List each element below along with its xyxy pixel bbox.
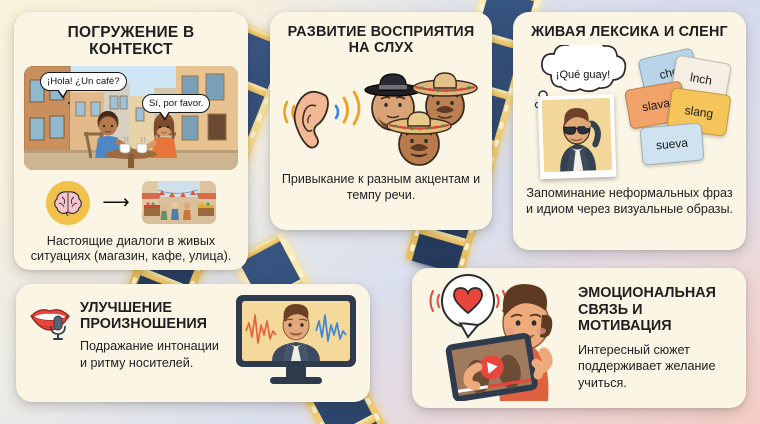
card-listening-description: Привыкание к разным акцентам и темпу реч…: [280, 172, 482, 203]
person-with-tablet: [422, 271, 572, 406]
card-emotion-title-line2: СВЯЗЬ И МОТИВАЦИЯ: [578, 302, 672, 335]
polaroid-photo-cool-guy: [538, 94, 617, 180]
card-immersion-title: ПОГРУЖЕНИЕ В КОНТЕКСТ: [24, 24, 238, 59]
word-card-5: sueva: [639, 122, 704, 165]
infographic-canvas: ПОГРУЖЕНИЕ В КОНТЕКСТ: [0, 0, 760, 424]
brain-icon: [46, 181, 90, 225]
card-listening-development[interactable]: РАЗВИТИЕ ВОСПРИЯТИЯ НА СЛУХ: [270, 12, 492, 230]
listening-illustration: [280, 60, 482, 172]
lips-mic-glyph: [28, 300, 72, 340]
card-listening-title: РАЗВИТИЕ ВОСПРИЯТИЯ НА СЛУХ: [280, 24, 482, 56]
cool-guy-illustration: [542, 98, 612, 172]
thought-bubble-text: ¡Qué guay!: [531, 49, 635, 101]
speech-bubble-left: ¡Hola! ¿Un café?: [40, 72, 127, 91]
market-illustration: [142, 181, 216, 224]
card-emotional-connection-motivation[interactable]: ЭМОЦИОНАЛЬНАЯ СВЯЗЬ И МОТИВАЦИЯ Интересн…: [412, 268, 746, 408]
card-emotion-desc-line1: Интересный сюжет: [578, 343, 690, 357]
card-emotion-desc-line2: поддерживает желание: [578, 359, 715, 373]
polaroid-photo-inner: [542, 98, 612, 172]
word-card-2-label: lnch: [689, 70, 713, 88]
card-listening-title-line2: НА СЛУХ: [349, 40, 414, 56]
person-tablet-illustration: [422, 271, 572, 401]
face-straw-hat-icon: [387, 112, 451, 165]
card-listening-title-line1: РАЗВИТИЕ ВОСПРИЯТИЯ: [288, 24, 475, 40]
card-pronunciation-title-line1: УЛУЧШЕНИЕ: [80, 300, 172, 316]
word-card-4-label: slang: [684, 103, 714, 121]
street-cafe-scene: ¡Hola! ¿Un café? Sí, por favor.: [24, 66, 238, 170]
monitor-waveform-speaker: [234, 293, 358, 394]
card-pronunciation-improvement[interactable]: УЛУЧШЕНИЕ ПРОИЗНОШЕНИЯ Подражание интона…: [16, 284, 370, 402]
card-slang-description: Запоминание неформальных фраз и идиом че…: [523, 186, 736, 217]
speech-bubble-right: Sí, por favor.: [142, 94, 210, 113]
brain-glyph: [53, 190, 83, 216]
card-immersion-description: Настоящие диалоги в живых ситуациях (маг…: [24, 234, 238, 265]
card-pronunciation-desc-line1: Подражание интонации: [80, 339, 219, 353]
slang-illustration: ¡Qué guay!: [523, 43, 736, 186]
monitor-illustration: [234, 293, 358, 389]
card-emotion-title: ЭМОЦИОНАЛЬНАЯ СВЯЗЬ И МОТИВАЦИЯ: [578, 285, 732, 335]
card-immersion-in-context[interactable]: ПОГРУЖЕНИЕ В КОНТЕКСТ: [14, 12, 248, 270]
card-pronunciation-description: Подражание интонации и ритму носителей.: [80, 338, 219, 371]
card-emotion-description: Интересный сюжет поддерживает желание уч…: [578, 342, 732, 391]
arrow-right-icon: ⟶: [102, 193, 129, 212]
lips-microphone-icon: [28, 294, 72, 345]
thought-bubble-icon: ¡Qué guay!: [531, 49, 635, 101]
card-living-vocabulary-slang[interactable]: ЖИВАЯ ЛЕКСИКА И СЛЕНГ ¡Qué guay!: [513, 12, 746, 250]
brain-to-market-row: ⟶: [24, 181, 238, 225]
ear-and-faces-svg: [280, 60, 482, 172]
word-card-5-label: sueva: [655, 136, 688, 153]
card-pronunciation-title-line2: ПРОИЗНОШЕНИЯ: [80, 316, 207, 332]
card-pronunciation-desc-line2: и ритму носителей.: [80, 356, 193, 370]
card-pronunciation-title: УЛУЧШЕНИЕ ПРОИЗНОШЕНИЯ: [80, 300, 219, 332]
heart-speech-bubble-icon: [431, 275, 506, 337]
card-slang-title: ЖИВАЯ ЛЕКСИКА И СЛЕНГ: [523, 24, 736, 40]
card-emotion-desc-line3: учиться.: [578, 376, 627, 390]
word-card-3-label: slava: [641, 96, 671, 115]
market-street-image: [142, 181, 216, 224]
card-emotion-title-line1: ЭМОЦИОНАЛЬНАЯ: [578, 285, 716, 301]
